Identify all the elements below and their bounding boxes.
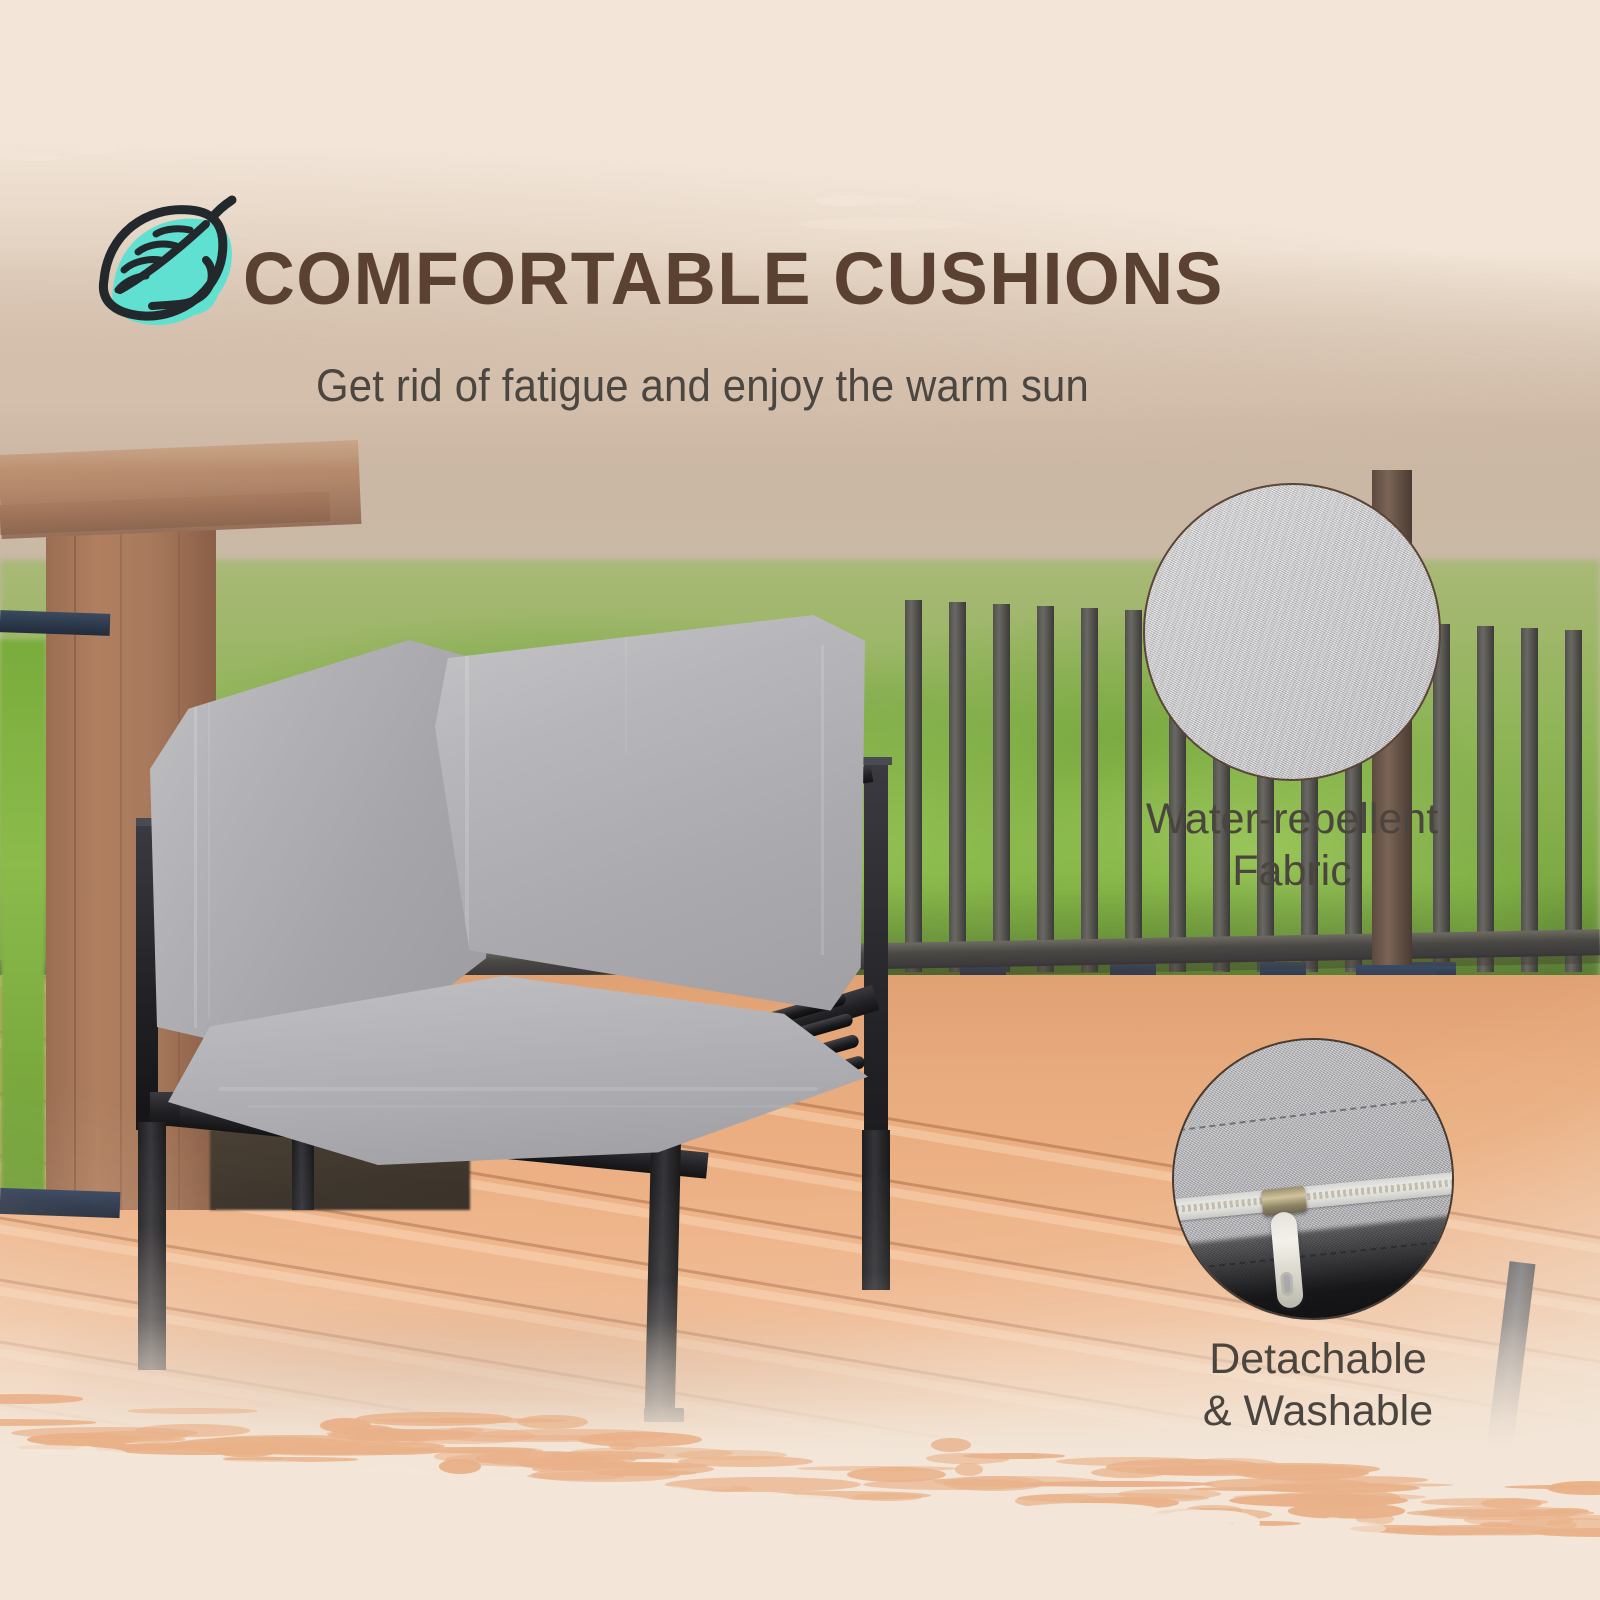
callout-label-water-repellent: Water-repellent Fabric (1072, 793, 1512, 898)
callout-line-1: Water-repellent (1072, 793, 1512, 845)
zipper-detail-circle (1172, 1038, 1454, 1320)
chair-foot-pad (644, 1408, 684, 1422)
callout-label-detachable: Detachable & Washable (1098, 1333, 1538, 1438)
page-subtitle: Get rid of fatigue and enjoy the warm su… (316, 360, 1089, 412)
zipper-pull-hole (1280, 1272, 1294, 1297)
callout-line-2: Fabric (1072, 845, 1512, 897)
callout-line-1: Detachable (1098, 1333, 1538, 1385)
promo-image-root: COMFORTABLE CUSHIONS Get rid of fatigue … (0, 0, 1600, 1600)
chair-leg-front-right (645, 1128, 682, 1419)
fabric-swatch-circle (1143, 483, 1441, 781)
chair-leg-rear-right (862, 1130, 890, 1290)
chair-leg-front-left (138, 1122, 166, 1370)
frame-cap-arm (862, 757, 892, 765)
page-title: COMFORTABLE CUSHIONS (243, 236, 1224, 321)
callout-line-2: & Washable (1098, 1385, 1538, 1437)
leaf-icon (72, 186, 252, 346)
